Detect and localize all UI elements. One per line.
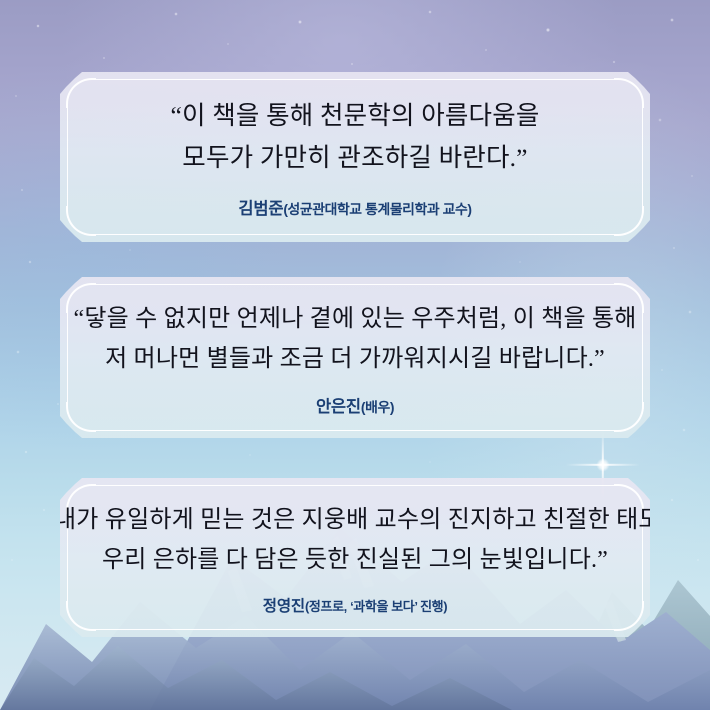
quote-line: “닿을 수 없지만 언제나 곁에 있는 우주처럼, 이 책을 통해: [74, 299, 637, 339]
quote-card-2: “닿을 수 없지만 언제나 곁에 있는 우주처럼, 이 책을 통해 저 머나먼 …: [60, 277, 650, 438]
quote-attribution: 안은진(배우): [316, 393, 394, 417]
quote-card-1-content: “이 책을 통해 천문학의 아름다움을 모두가 가만히 관조하길 바란다.” 김…: [60, 72, 650, 242]
promo-card-stage: “이 책을 통해 천문학의 아름다움을 모두가 가만히 관조하길 바란다.” 김…: [0, 0, 710, 710]
quote-card-3: “내가 유일하게 믿는 것은 지웅배 교수의 진지하고 친절한 태도, 우리 은…: [60, 478, 650, 637]
quote-line: “이 책을 통해 천문학의 아름다움을: [170, 95, 539, 137]
quote-line: 저 머나먼 별들과 조금 더 가까워지시길 바랍니다.”: [105, 339, 605, 379]
quote-line: “내가 유일하게 믿는 것은 지웅배 교수의 진지하고 친절한 태도,: [43, 500, 667, 540]
quote-attribution: 정영진(정프로, ‘과학을 보다’ 진행): [263, 594, 447, 616]
attribution-role: (정프로, ‘과학을 보다’ 진행): [305, 599, 447, 614]
quote-card-3-content: “내가 유일하게 믿는 것은 지웅배 교수의 진지하고 친절한 태도, 우리 은…: [60, 478, 650, 637]
attribution-role: (배우): [361, 399, 394, 415]
quote-attribution: 김범준(성균관대학교 통계물리학과 교수): [238, 195, 471, 219]
attribution-name: 안은진: [316, 398, 361, 416]
attribution-name: 김범준: [238, 200, 283, 218]
attribution-role: (성균관대학교 통계물리학과 교수): [283, 201, 471, 217]
quote-card-2-content: “닿을 수 없지만 언제나 곁에 있는 우주처럼, 이 책을 통해 저 머나먼 …: [60, 277, 650, 438]
attribution-name: 정영진: [263, 598, 305, 615]
quote-card-1: “이 책을 통해 천문학의 아름다움을 모두가 가만히 관조하길 바란다.” 김…: [60, 72, 650, 242]
quote-line: 우리 은하를 다 담은 듯한 진실된 그의 눈빛입니다.”: [102, 540, 608, 580]
quote-line: 모두가 가만히 관조하길 바란다.”: [182, 137, 527, 179]
